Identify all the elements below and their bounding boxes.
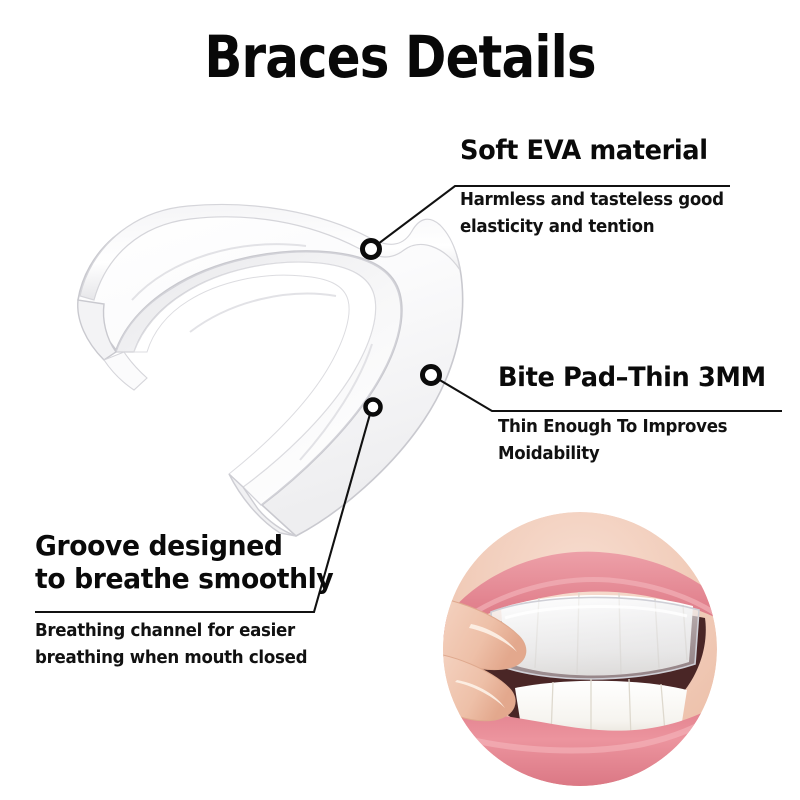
callout-groove-heading-line-1: Groove designed bbox=[35, 529, 333, 562]
callout-groove-heading: Groove designed to breathe smoothly bbox=[35, 529, 333, 595]
callout-bite-pad-body-line-2: Moidability bbox=[498, 441, 766, 468]
infographic-page: Braces Details bbox=[0, 0, 800, 800]
callout-soft-eva-body-line-1: Harmless and tasteless good bbox=[460, 187, 724, 214]
marker-soft-eva bbox=[363, 241, 380, 258]
marker-bite-pad bbox=[423, 367, 440, 384]
callout-markers bbox=[363, 241, 440, 415]
marker-groove bbox=[366, 400, 381, 415]
callout-bite-pad-body: Thin Enough To Improves Moidability bbox=[498, 414, 766, 468]
callout-bite-pad-body-line-1: Thin Enough To Improves bbox=[498, 414, 766, 441]
callout-groove-body-line-1: Breathing channel for easier bbox=[35, 618, 333, 645]
callout-bite-pad: Bite Pad–Thin 3MM Thin Enough To Improve… bbox=[498, 361, 780, 468]
callout-bite-pad-heading: Bite Pad–Thin 3MM bbox=[498, 361, 766, 394]
callout-soft-eva-body: Harmless and tasteless good elasticity a… bbox=[460, 187, 724, 241]
callout-soft-eva-body-line-2: elasticity and tention bbox=[460, 214, 724, 241]
callout-groove-body-line-2: breathing when mouth closed bbox=[35, 645, 333, 672]
callout-groove-heading-line-2: to breathe smoothly bbox=[35, 562, 333, 595]
callout-groove-body: Breathing channel for easier breathing w… bbox=[35, 618, 333, 672]
callout-soft-eva-heading: Soft EVA material bbox=[460, 134, 724, 167]
callout-soft-eva: Soft EVA material Harmless and tasteless… bbox=[460, 134, 738, 241]
callout-groove: Groove designed to breathe smoothly Brea… bbox=[35, 529, 349, 672]
